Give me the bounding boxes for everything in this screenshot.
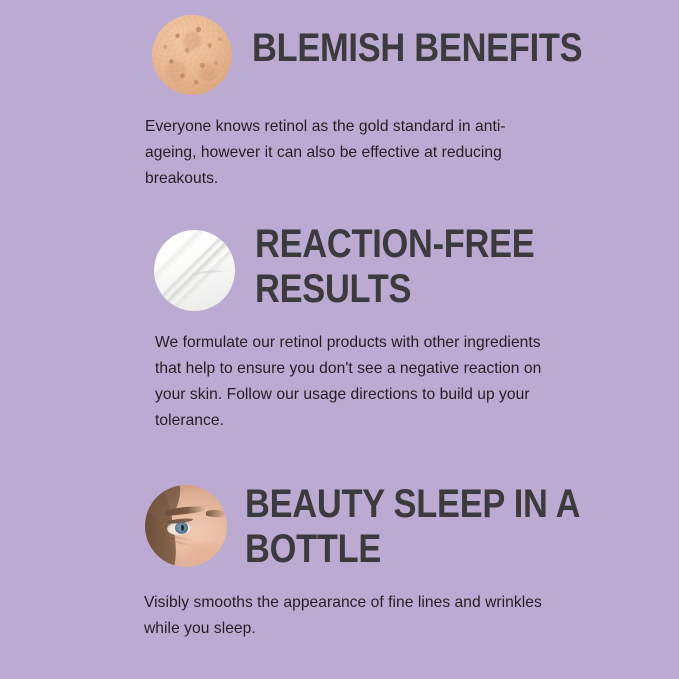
section-heading: BEAUTY SLEEP IN A BOTTLE bbox=[245, 482, 580, 572]
section-header-row: BLEMISH BENEFITS bbox=[0, 0, 679, 95]
section-beauty-sleep-in-a-bottle: BEAUTY SLEEP IN A BOTTLE Visibly smooths… bbox=[0, 481, 679, 642]
cream-swatch-art bbox=[154, 230, 235, 311]
blemished-skin-texture-circle-icon bbox=[152, 15, 232, 95]
face-closeup-art bbox=[145, 485, 227, 567]
white-cream-swatch-circle-icon bbox=[154, 230, 235, 311]
second-eyebrow-art bbox=[206, 509, 227, 516]
infographic-page: BLEMISH BENEFITS Everyone knows retinol … bbox=[0, 0, 679, 679]
skin-texture-art bbox=[152, 15, 232, 95]
womans-eye-closeup-circle-icon bbox=[145, 485, 227, 567]
section-reaction-free-results: REACTION-FREE RESULTS We formulate our r… bbox=[0, 222, 679, 434]
section-heading: BLEMISH BENEFITS bbox=[252, 25, 582, 71]
iris-art bbox=[175, 521, 188, 534]
section-blemish-benefits: BLEMISH BENEFITS Everyone knows retinol … bbox=[0, 0, 679, 192]
section-body-text: Visibly smooths the appearance of fine l… bbox=[144, 590, 544, 642]
section-header-row: BEAUTY SLEEP IN A BOTTLE bbox=[0, 481, 679, 572]
forehead-line-art bbox=[190, 504, 215, 507]
section-header-row: REACTION-FREE RESULTS bbox=[0, 222, 679, 312]
section-body-text: Everyone knows retinol as the gold stand… bbox=[145, 114, 535, 192]
section-heading: REACTION-FREE RESULTS bbox=[255, 222, 535, 312]
pupil-art bbox=[181, 525, 184, 531]
section-body-text: We formulate our retinol products with o… bbox=[155, 330, 545, 434]
